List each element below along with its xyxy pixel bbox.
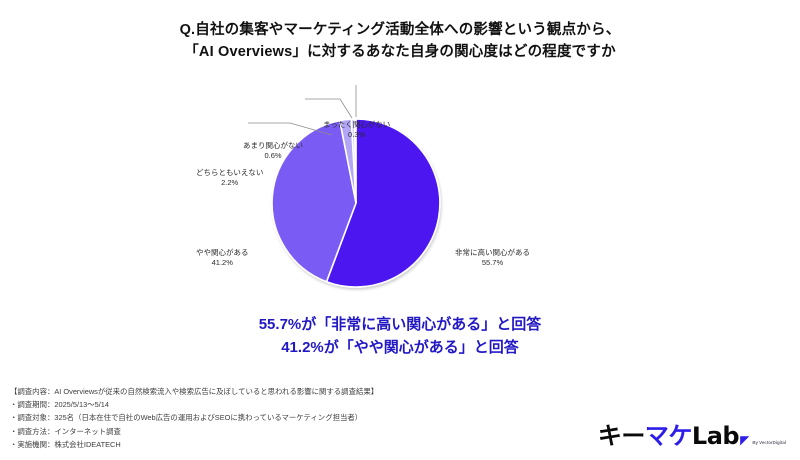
pie-label-neither: どちらともいえない 2.2% (196, 168, 263, 188)
pie-label-name: どちらともいえない (196, 168, 263, 178)
logo-tagline: By VectorDigital (752, 440, 786, 445)
logo-dot-icon: ◤ (740, 433, 749, 447)
conclusion-text: 55.7%が「非常に高い関心がある」と回答 41.2%が「やや関心がある」と回答 (0, 313, 800, 360)
page-title-line-1: Q.自社の集客やマーケティング活動全体への影響という観点から、 (0, 20, 800, 42)
pie-label-name: 非常に高い関心がある (455, 248, 530, 258)
logo-part-make: マケ (645, 424, 692, 448)
logo-part-lab: Lab (692, 424, 739, 448)
pie-chart-svg (0, 55, 800, 305)
pie-label-not-much: あまり関心がない 0.6% (243, 141, 303, 161)
pie-label-value: 41.2% (196, 258, 249, 268)
logo-part-ki: キー (598, 424, 645, 448)
pie-label-value: 2.2% (196, 178, 263, 188)
pie-chart: 非常に高い関心がある 55.7% やや関心がある 41.2% どちらともいえない… (0, 55, 800, 305)
survey-heading: 【調査内容：AI Overviewsが従来の自然検索流入や検索広告に及ぼしている… (10, 385, 710, 398)
leader-line-not-much (305, 99, 352, 118)
pie-label-somewhat-interest: やや関心がある 41.2% (196, 248, 249, 268)
pie-label-name: あまり関心がない (243, 141, 303, 151)
pie-label-none-at-all: まったく関心がない 0.3% (323, 120, 390, 140)
pie-label-value: 0.6% (243, 151, 303, 161)
pie-label-very-high-interest: 非常に高い関心がある 55.7% (455, 248, 530, 268)
brand-logo[interactable]: キー マケ Lab ◤ By VectorDigital (598, 424, 786, 448)
survey-period: ・調査期間：2025/5/13〜5/14 (10, 398, 710, 411)
conclusion-line-2: 41.2%が「やや関心がある」と回答 (0, 336, 800, 359)
pie-label-name: やや関心がある (196, 248, 249, 258)
pie-label-value: 55.7% (455, 258, 530, 268)
pie-label-name: まったく関心がない (323, 120, 390, 130)
pie-label-value: 0.3% (323, 130, 390, 140)
conclusion-line-1: 55.7%が「非常に高い関心がある」と回答 (0, 313, 800, 336)
